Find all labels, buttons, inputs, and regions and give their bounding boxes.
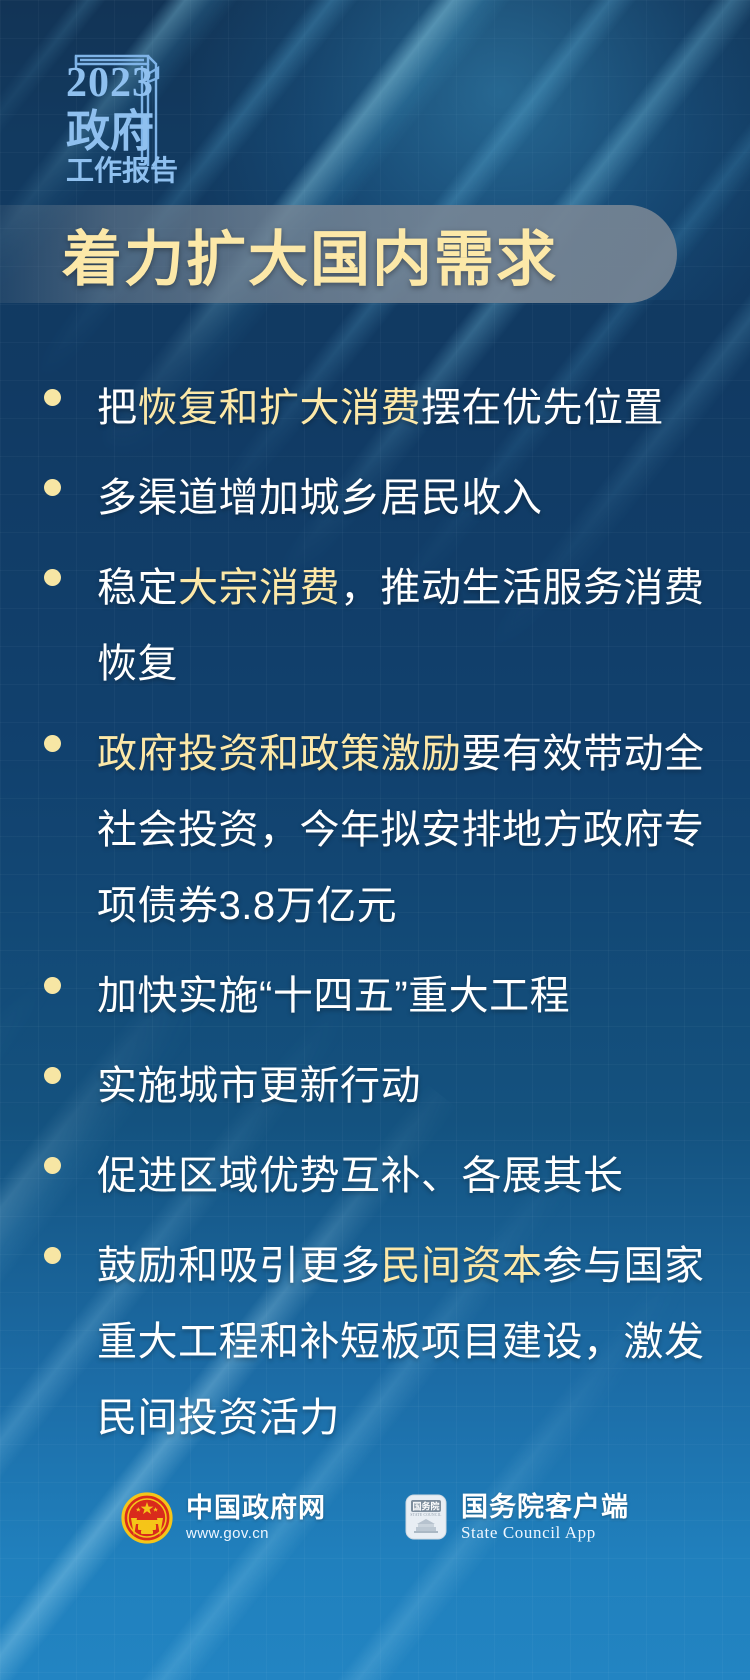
bullet-dot-icon (44, 1247, 61, 1264)
plain-phrase: 把 (97, 386, 138, 430)
brand-name-en: State Council App (461, 1523, 629, 1542)
brand-text-app: 国务院客户端 State Council App (461, 1492, 629, 1542)
plain-phrase: 促进区域优势互补、各展其长 (97, 1154, 624, 1198)
bullet-item: 加快实施“十四五”重大工程 (0, 958, 750, 1034)
logo-year: 2023 (66, 60, 154, 106)
highlighted-phrase: 民间资本 (381, 1244, 543, 1288)
plain-phrase: 多渠道增加城乡居民收入 (97, 476, 543, 520)
brand-text-gov: 中国政府网 www.gov.cn (186, 1493, 326, 1543)
bullet-dot-icon (44, 1067, 61, 1084)
brand-gov-cn[interactable]: 中国政府网 www.gov.cn (121, 1492, 326, 1544)
bullet-item: 把恢复和扩大消费摆在优先位置 (0, 370, 750, 446)
footer-brands: 中国政府网 www.gov.cn 国务院 STATE COUNCIL 国务院客户… (0, 1492, 750, 1572)
brand-name-cn: 中国政府网 (186, 1493, 326, 1524)
plain-phrase: 稳定 (97, 566, 178, 610)
bullet-dot-icon (44, 479, 61, 496)
policy-bullet-list: 把恢复和扩大消费摆在优先位置多渠道增加城乡居民收入稳定大宗消费，推动生活服务消费… (0, 370, 750, 1470)
plain-phrase: 加快实施“十四五”重大工程 (97, 974, 570, 1018)
bullet-item: 实施城市更新行动 (0, 1048, 750, 1124)
bullet-item: 鼓励和吸引更多民间资本参与国家重大工程和补短板项目建设，激发民间投资活力 (0, 1228, 750, 1456)
bullet-item: 促进区域优势互补、各展其长 (0, 1138, 750, 1214)
plain-phrase: 实施城市更新行动 (97, 1064, 421, 1108)
brand-state-council-app[interactable]: 国务院 STATE COUNCIL 国务院客户端 State Council A… (404, 1492, 629, 1542)
bullet-text: 把恢复和扩大消费摆在优先位置 (97, 370, 750, 446)
state-council-app-icon: 国务院 STATE COUNCIL (404, 1493, 448, 1541)
bullet-text: 促进区域优势互补、各展其长 (97, 1138, 750, 1214)
highlighted-phrase: 大宗消费 (178, 566, 340, 610)
page-title: 着力扩大国内需求 (62, 204, 682, 304)
bullet-text: 稳定大宗消费，推动生活服务消费恢复 (97, 550, 750, 702)
svg-text:STATE COUNCIL: STATE COUNCIL (410, 1513, 441, 1517)
bullet-dot-icon (44, 569, 61, 586)
bullet-dot-icon (44, 977, 61, 994)
highlighted-phrase: 政府投资和政策激励 (97, 732, 462, 776)
svg-text:国务院: 国务院 (412, 1501, 439, 1512)
bullet-dot-icon (44, 735, 61, 752)
plain-phrase: 摆在优先位置 (421, 386, 664, 430)
bullet-item: 政府投资和政策激励要有效带动全社会投资，今年拟安排地方政府专项债券3.8万亿元 (0, 716, 750, 944)
brand-name-en: www.gov.cn (186, 1524, 326, 1543)
bullet-item: 多渠道增加城乡居民收入 (0, 460, 750, 536)
bullet-dot-icon (44, 1157, 61, 1174)
poster-root: 2023 政府 工作报告 着力扩大国内需求 把恢复和扩大消费摆在优先位置多渠道增… (0, 0, 750, 1680)
bullet-item: 稳定大宗消费，推动生活服务消费恢复 (0, 550, 750, 702)
plain-phrase: 鼓励和吸引更多 (97, 1244, 381, 1288)
report-logo: 2023 政府 工作报告 (36, 34, 188, 184)
logo-line1: 政府 (66, 107, 154, 156)
logo-line2: 工作报告 (66, 155, 178, 184)
bullet-text: 政府投资和政策激励要有效带动全社会投资，今年拟安排地方政府专项债券3.8万亿元 (97, 716, 750, 944)
national-emblem-icon (121, 1492, 173, 1544)
bullet-text: 鼓励和吸引更多民间资本参与国家重大工程和补短板项目建设，激发民间投资活力 (97, 1228, 750, 1456)
bullet-dot-icon (44, 389, 61, 406)
bullet-text: 实施城市更新行动 (97, 1048, 750, 1124)
bullet-text: 加快实施“十四五”重大工程 (97, 958, 750, 1034)
highlighted-phrase: 恢复和扩大消费 (138, 386, 422, 430)
brand-name-cn: 国务院客户端 (461, 1492, 629, 1523)
bullet-text: 多渠道增加城乡居民收入 (97, 460, 750, 536)
